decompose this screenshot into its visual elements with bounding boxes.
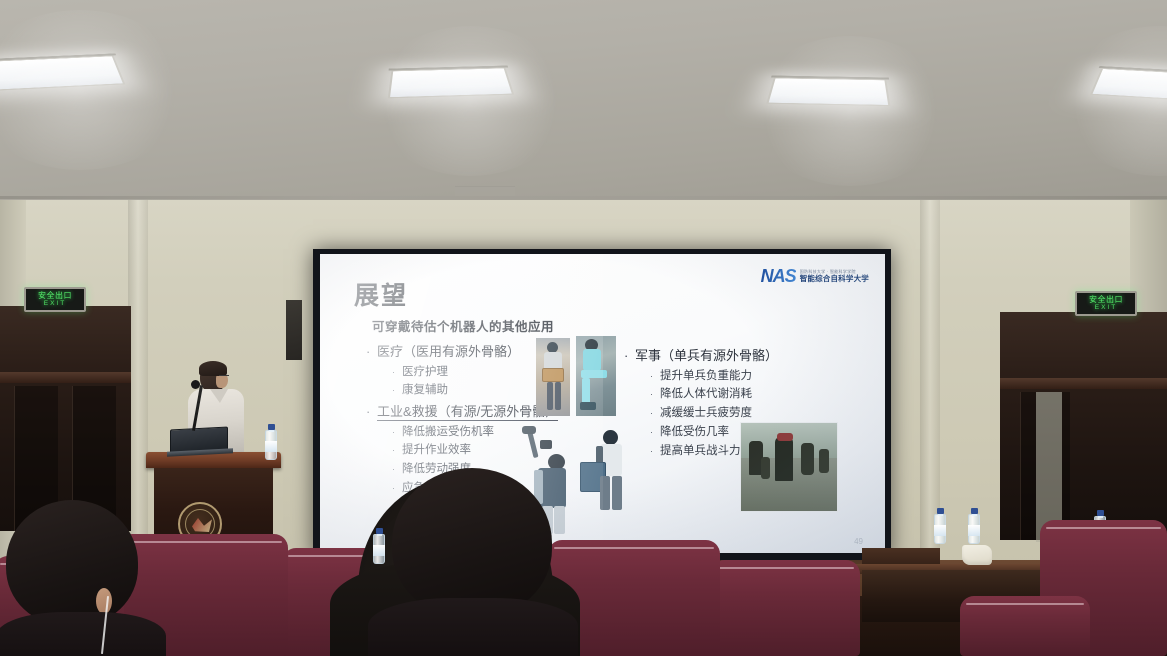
- audience-person: [6, 500, 156, 656]
- bullet-text: 工业&救援（有源/无源外骨骼）: [377, 404, 558, 421]
- alcove-rail: [1000, 378, 1167, 389]
- bullet-text: 降低受伤几率: [660, 426, 729, 438]
- exit-sign-label-cn: 安全出口: [1089, 295, 1123, 304]
- presenter-laptop: [170, 428, 232, 456]
- slide-subtitle: 可穿戴待估个机器人的其他应用: [372, 316, 554, 335]
- exit-sign-label-cn: 安全出口: [38, 291, 72, 300]
- slide-photo-military-exoskeleton-soldiers: [740, 422, 838, 512]
- logo-line-bottom: 智能综合自科学大学: [800, 275, 869, 283]
- logo-mark: NAS: [761, 266, 796, 287]
- bullet-text: 降低人体代谢消耗: [660, 388, 752, 400]
- bullet-level2: ·降低人体代谢消耗: [650, 386, 824, 404]
- slide-photo-medical-exoskeleton-seated: [576, 336, 616, 416]
- exit-sign-label-en: EXIT: [44, 300, 66, 308]
- face-mask: [962, 545, 992, 565]
- presenter-hair: [199, 361, 227, 376]
- ceiling-seam: [0, 196, 1167, 199]
- bullet-text: 提升作业效率: [402, 444, 471, 456]
- alcove-rail: [0, 372, 131, 383]
- exit-sign-left: 安全出口 EXIT: [24, 287, 86, 312]
- auditorium-seat: [960, 596, 1090, 656]
- slide-title: 展望: [354, 276, 408, 312]
- glasses-icon: [219, 375, 229, 378]
- wall-speaker: [286, 300, 302, 360]
- bullet-level2: ·提升单兵负重能力: [650, 368, 824, 386]
- alcove-door: [1020, 392, 1070, 540]
- ceiling-vent-secondary: [455, 186, 515, 196]
- slide-photo-medical-exoskeleton-walking: [536, 338, 570, 416]
- ceiling: [0, 0, 1167, 212]
- bullet-level1: ·军事（单兵有源外骨骼）: [624, 346, 824, 366]
- bullet-text: 军事（单兵有源外骨骼）: [635, 348, 778, 363]
- water-bottle: [934, 508, 946, 544]
- university-logo: NAS 国防科技大学 · 智能科学学院 智能综合自科学大学: [761, 266, 869, 287]
- audience-person: [392, 468, 542, 656]
- slide-number: 49: [854, 537, 863, 546]
- ceiling-light-panel: [388, 67, 514, 98]
- bullet-text: 医疗（医用有源外骨骼）: [377, 344, 520, 359]
- exit-sign-label-en: EXIT: [1095, 304, 1117, 312]
- bullet-text: 康复辅助: [402, 384, 448, 396]
- water-bottle: [265, 424, 277, 460]
- ceiling-light-panel: [766, 77, 890, 106]
- auditorium-seat: [710, 560, 860, 656]
- bullet-text: 减缓缓士兵疲劳度: [660, 407, 752, 419]
- lecture-hall-photo: 安全出口 EXIT 安全出口 EXIT 展望 NAS 国防科技大学 · 智能科学…: [0, 0, 1167, 656]
- bullet-text: 提高单兵战斗力: [660, 445, 741, 457]
- water-bottle: [968, 504, 980, 544]
- exit-sign-right: 安全出口 EXIT: [1075, 291, 1137, 316]
- bullet-text: 提升单兵负重能力: [660, 370, 752, 382]
- bullet-level2: ·减缓缓士兵疲劳度: [650, 405, 824, 423]
- bullet-text: 降低搬运受伤机率: [402, 426, 494, 438]
- water-bottle: [373, 530, 385, 564]
- bullet-text: 医疗护理: [402, 366, 448, 378]
